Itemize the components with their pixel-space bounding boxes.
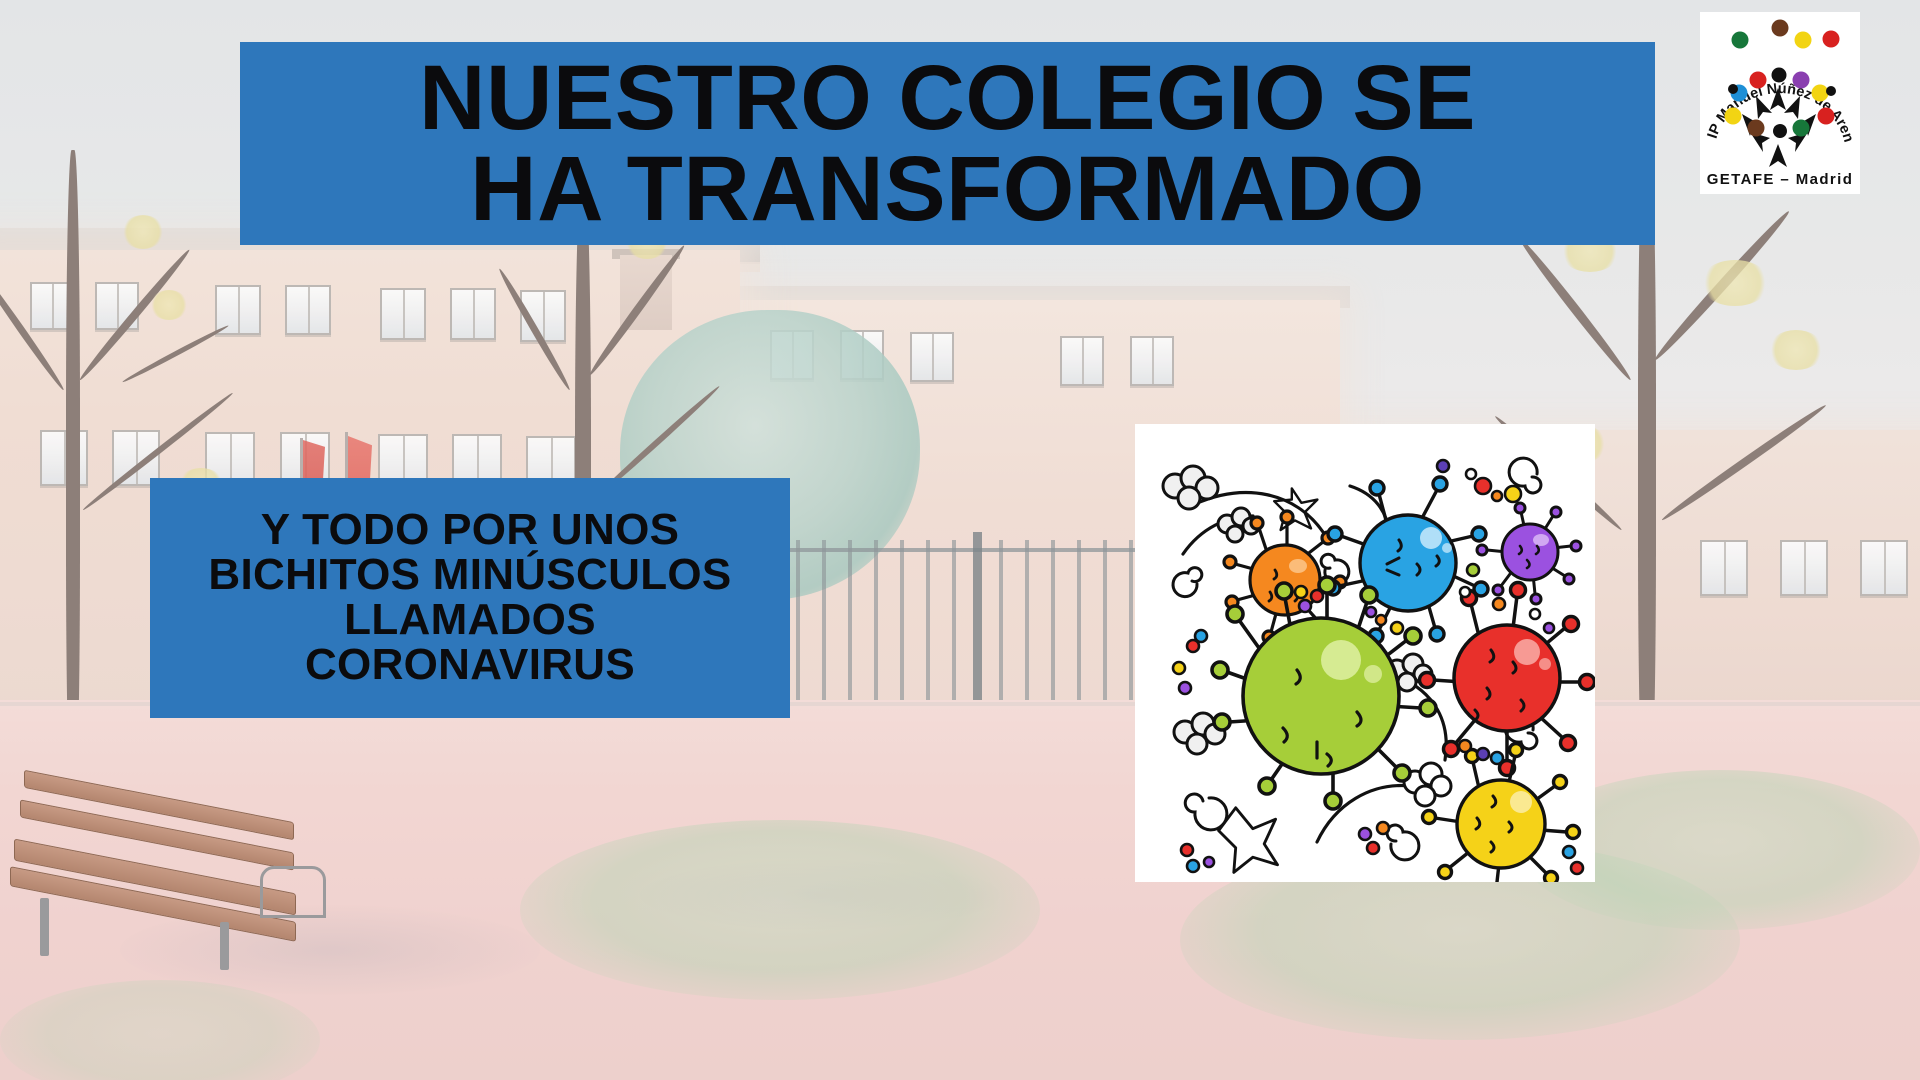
logo-head — [1725, 108, 1742, 125]
logo-head — [1772, 68, 1787, 83]
subtitle-line-4: CORONAVIRUS — [305, 643, 635, 688]
fence-bar — [796, 540, 800, 720]
logo-head — [1793, 120, 1810, 137]
grass-patch — [520, 820, 1040, 1000]
logo-dot — [1823, 31, 1840, 48]
window — [1130, 336, 1174, 386]
fence-bar — [1025, 540, 1029, 720]
slide-canvas: NUESTRO COLEGIO SE HA TRANSFORMADO Y TOD… — [0, 0, 1920, 1080]
subtitle-line-1: Y TODO POR UNOS — [261, 508, 680, 553]
bench-leg — [220, 922, 229, 970]
fence-bar — [952, 540, 956, 720]
subtitle-banner: Y TODO POR UNOS BICHITOS MINÚSCULOS LLAM… — [150, 478, 790, 718]
fence-bar — [900, 540, 904, 720]
fence-bar — [1103, 540, 1107, 720]
logo-head — [1818, 108, 1835, 125]
fence-bar — [848, 540, 852, 720]
title-line-1: NUESTRO COLEGIO SE — [419, 53, 1476, 143]
fence-bar — [1051, 540, 1055, 720]
fence-bar — [1077, 540, 1081, 720]
tree-blossom — [1700, 260, 1770, 306]
logo-dot — [1732, 32, 1749, 49]
window — [910, 332, 954, 382]
logo-dot — [1795, 32, 1812, 49]
park-bench — [10, 770, 310, 960]
window — [1700, 540, 1748, 596]
fence-bar — [999, 540, 1003, 720]
tree-blossom — [1768, 330, 1824, 370]
virus-illustration-panel — [1135, 424, 1595, 882]
window — [380, 288, 426, 340]
logo-head — [1728, 84, 1738, 94]
title-banner: NUESTRO COLEGIO SE HA TRANSFORMADO — [240, 42, 1655, 245]
tree-blossom — [150, 290, 188, 320]
subtitle-line-3: LLAMADOS — [344, 598, 596, 643]
logo-location-text: GETAFE – Madrid — [1707, 171, 1854, 188]
bench-leg — [40, 898, 49, 956]
window — [285, 285, 331, 335]
fence-bar — [822, 540, 826, 720]
fence-bar — [1129, 540, 1133, 720]
logo-head — [1773, 124, 1787, 138]
window — [1860, 540, 1908, 596]
logo-head — [1750, 72, 1767, 89]
bench-armrest — [260, 866, 326, 918]
fence-bar — [874, 540, 878, 720]
playground-fence — [770, 540, 1190, 720]
title-line-2: HA TRANSFORMADO — [470, 144, 1425, 234]
window — [1060, 336, 1104, 386]
window — [40, 430, 88, 486]
window — [1780, 540, 1828, 596]
subtitle-line-2: BICHITOS MINÚSCULOS — [208, 553, 731, 598]
logo-head — [1812, 85, 1829, 102]
logo-head — [1748, 120, 1765, 137]
fence-post — [973, 532, 982, 724]
logo-dot — [1772, 20, 1789, 37]
school-logo: CEIP Manuel Núñez de Arenas — [1700, 12, 1860, 194]
fence-bar — [926, 540, 930, 720]
logo-head — [1793, 72, 1810, 89]
tree-blossom — [122, 215, 164, 249]
logo-head — [1826, 86, 1836, 96]
window — [450, 288, 496, 340]
